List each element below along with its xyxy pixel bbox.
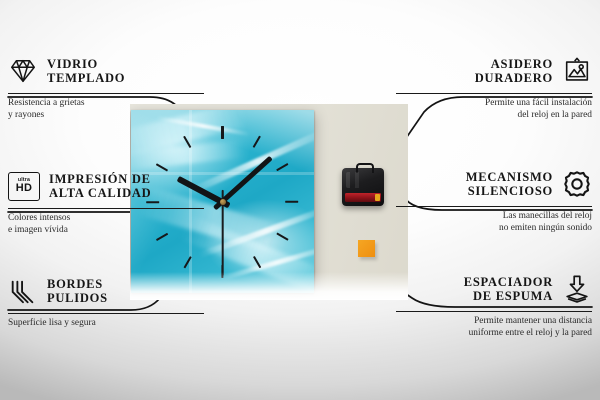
feature-divider xyxy=(8,208,204,209)
feature-subtitle: Las manecillas del reloj no emiten ningú… xyxy=(396,211,592,234)
feature-subtitle: Superficie lisa y segura xyxy=(8,318,204,330)
feature-divider xyxy=(8,313,204,314)
diamond-icon xyxy=(8,56,38,86)
feature-divider xyxy=(8,93,204,94)
mechanism-face xyxy=(346,172,380,188)
feature-vidrio-templado: VIDRIO TEMPLADO Resistencia a grietas y … xyxy=(8,52,204,121)
gear-icon xyxy=(562,169,592,199)
picture-frame-hanger-icon xyxy=(562,56,592,86)
ultra-hd-badge-icon: ultra HD xyxy=(8,172,40,201)
feature-title: ESPACIADOR DE ESPUMA xyxy=(464,275,553,304)
clock-center-cap xyxy=(220,199,226,205)
feature-espaciador-de-espuma: ESPACIADOR DE ESPUMA Permite mantener un… xyxy=(396,270,592,339)
feature-subtitle: Colores intensos e imagen vívida xyxy=(8,213,204,236)
feature-title: ASIDERO DURADERO xyxy=(475,57,553,86)
feature-divider xyxy=(396,311,592,312)
feature-subtitle: Permite una fácil instalación del reloj … xyxy=(396,98,592,121)
feature-mecanismo-silencioso: MECANISMO SILENCIOSO Las manecillas del … xyxy=(396,165,592,234)
hd-badge-main-text: HD xyxy=(16,183,33,194)
feature-title: BORDES PULIDOS xyxy=(47,277,108,306)
feature-subtitle: Resistencia a grietas y rayones xyxy=(8,98,204,121)
feature-title: IMPRESIÓN DE ALTA CALIDAD xyxy=(49,172,151,201)
product-infographic: VIDRIO TEMPLADO Resistencia a grietas y … xyxy=(0,0,600,400)
feature-subtitle: Permite mantener una distancia uniforme … xyxy=(396,316,592,339)
foam-spacer xyxy=(358,240,375,257)
feature-divider xyxy=(396,93,592,94)
feature-bordes-pulidos: BORDES PULIDOS Superficie lisa y segura xyxy=(8,272,204,330)
clock-tick xyxy=(223,200,299,202)
battery xyxy=(345,193,381,202)
feature-impresion-alta-calidad: ultra HD IMPRESIÓN DE ALTA CALIDAD Color… xyxy=(8,167,204,236)
clock-mechanism xyxy=(342,168,384,206)
feature-divider xyxy=(396,206,592,207)
feature-asidero-duradero: ASIDERO DURADERO Permite una fácil insta… xyxy=(396,52,592,121)
feature-title: MECANISMO SILENCIOSO xyxy=(466,170,553,199)
polished-edges-icon xyxy=(8,276,38,306)
feature-title: VIDRIO TEMPLADO xyxy=(47,57,125,86)
arrow-down-onto-pad-icon xyxy=(562,274,592,304)
